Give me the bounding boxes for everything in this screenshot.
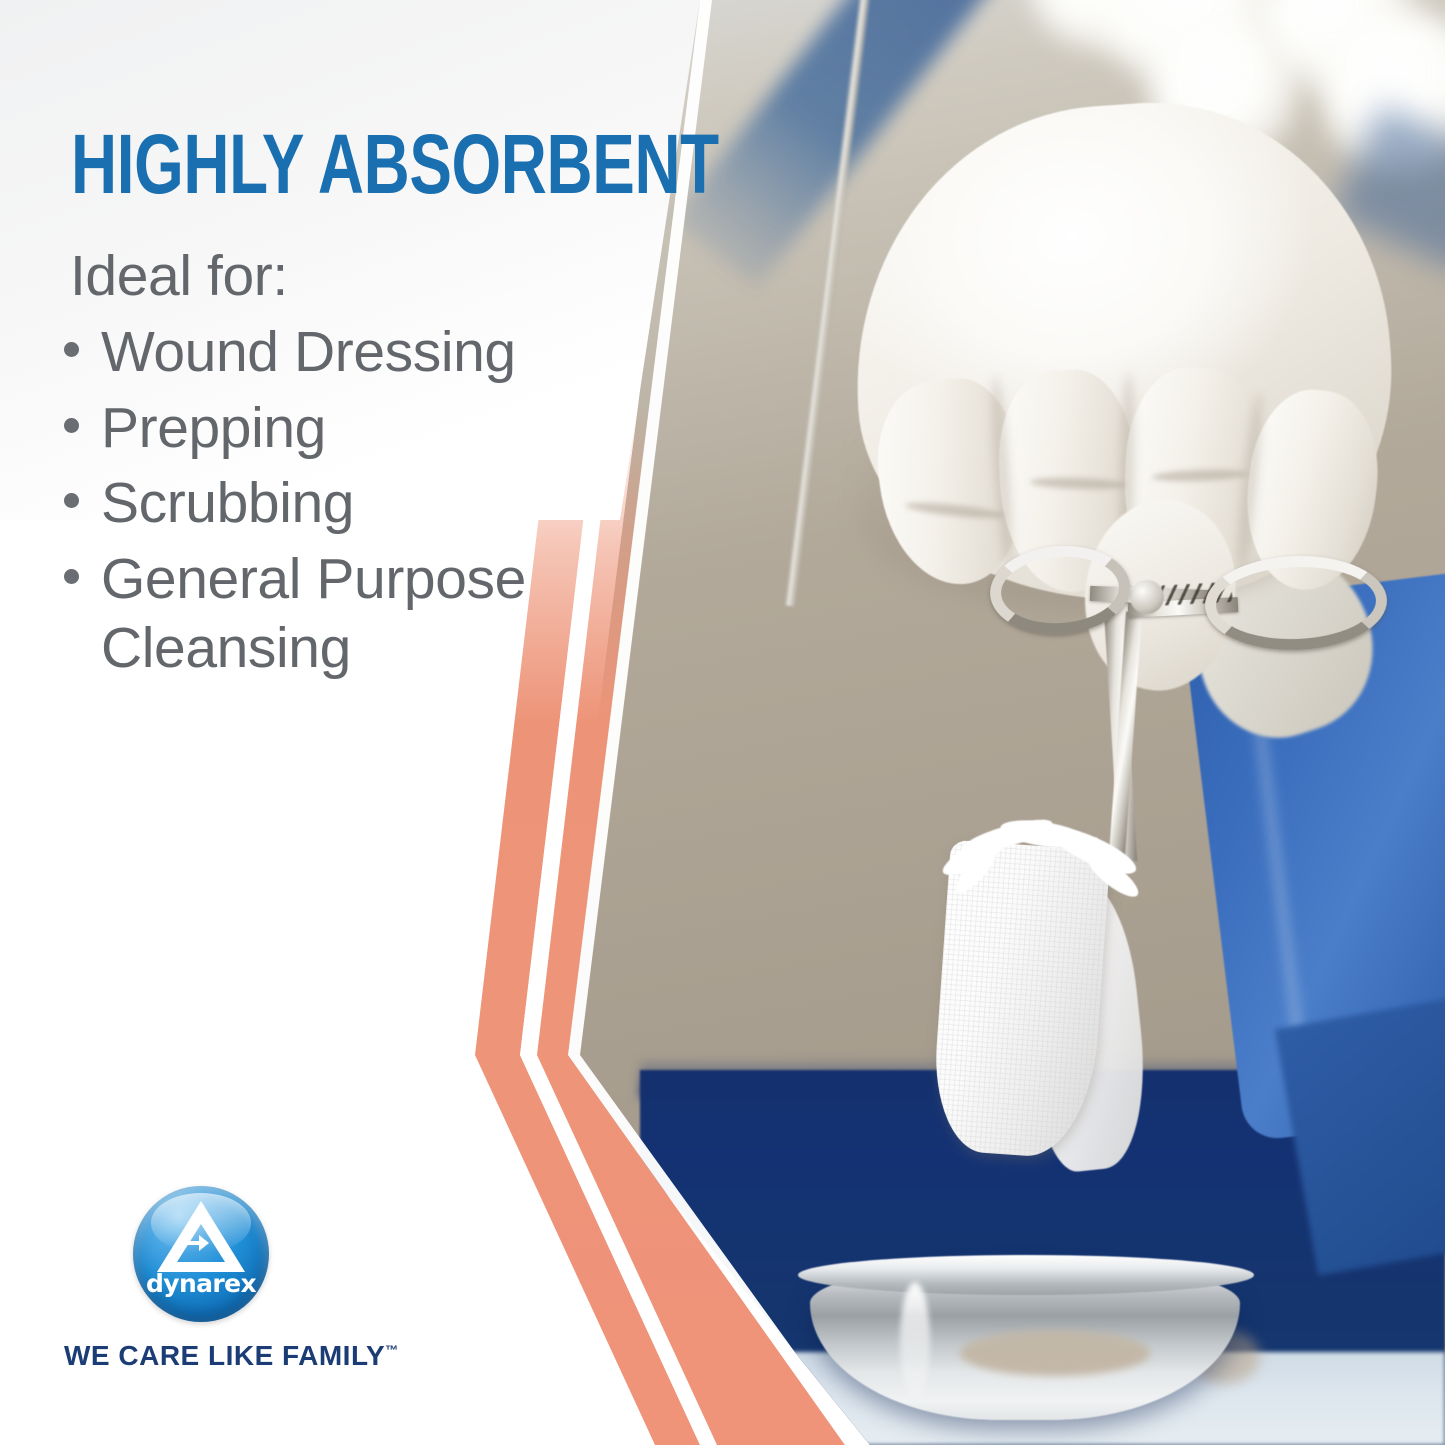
brand-tagline: WE CARE LIKE FAMILY™ bbox=[64, 1340, 394, 1372]
trademark-symbol: ™ bbox=[385, 1343, 398, 1358]
brand-tagline-text: WE CARE LIKE FAMILY bbox=[64, 1340, 385, 1371]
dynarex-triangle-icon bbox=[133, 1186, 269, 1322]
list-item: Wound Dressing bbox=[64, 318, 564, 388]
dynarex-badge: dynarex bbox=[133, 1186, 269, 1322]
list-item: General Purpose Cleansing bbox=[64, 545, 564, 684]
list-item-label: Prepping bbox=[101, 394, 326, 464]
bowl-rim bbox=[798, 1255, 1254, 1295]
list-item: Prepping bbox=[64, 394, 564, 464]
list-item: Scrubbing bbox=[64, 469, 564, 539]
bullet-icon bbox=[64, 569, 79, 584]
page-title: HIGHLY ABSORBENT bbox=[71, 126, 719, 203]
brand-logo: dynarex WE CARE LIKE FAMILY™ bbox=[64, 1186, 394, 1372]
list-item-label: Scrubbing bbox=[101, 469, 354, 539]
dynarex-wordmark: dynarex bbox=[133, 1269, 269, 1298]
product-feature-graphic: HIGHLY ABSORBENT Ideal for: Wound Dressi… bbox=[0, 0, 1445, 1445]
benefits-list: Wound Dressing Prepping Scrubbing Genera… bbox=[64, 318, 564, 690]
list-item-label: General Purpose Cleansing bbox=[101, 545, 564, 684]
bowl-highlight bbox=[900, 1282, 930, 1400]
list-item-label: Wound Dressing bbox=[101, 318, 516, 388]
bullet-icon bbox=[64, 342, 79, 357]
bullet-icon bbox=[64, 418, 79, 433]
forceps-hinge bbox=[1130, 580, 1164, 614]
subhead-label: Ideal for: bbox=[70, 243, 288, 309]
bowl-inner-reflection bbox=[960, 1330, 1150, 1376]
bullet-icon bbox=[64, 493, 79, 508]
